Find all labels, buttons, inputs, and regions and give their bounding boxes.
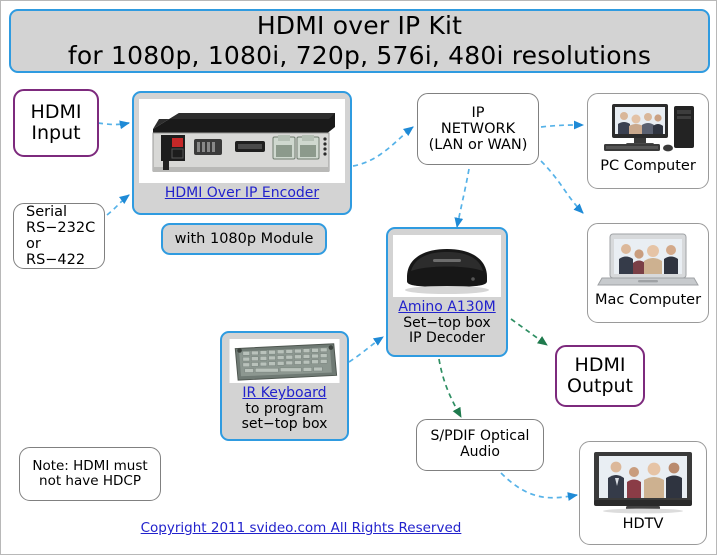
ip-network-box: IP NETWORK (LAN or WAN) — [417, 93, 539, 165]
diagram-page: HDMI over IP Kit for 1080p, 1080i, 720p,… — [0, 0, 717, 555]
pc-computer-caption: PC Computer — [600, 158, 696, 174]
macbook-laptop-photo — [594, 230, 702, 290]
ip-network-line-2: NETWORK — [441, 121, 515, 137]
spdif-audio-box: S/PDIF Optical Audio — [416, 419, 544, 471]
wire-decoder-to-hdmi-output — [511, 319, 547, 345]
ip-network-line-3: (LAN or WAN) — [429, 137, 528, 153]
ir-keyboard-link[interactable]: IR Keyboard — [242, 385, 326, 401]
ir-keyboard-line-3: set−top box — [242, 417, 328, 433]
hdcp-note-box: Note: HDMI must not have HDCP — [19, 447, 161, 501]
module-label: with 1080p Module — [175, 231, 314, 247]
hdmi-input-box: HDMI Input — [13, 89, 99, 157]
hdmi-output-box: HDMI Output — [555, 345, 645, 407]
hdtv-caption: HDTV — [623, 516, 664, 532]
mac-computer-box: Mac Computer — [587, 223, 709, 323]
title-line-1: HDMI over IP Kit — [257, 11, 462, 41]
title-line-2: for 1080p, 1080i, 720p, 576i, 480i resol… — [68, 41, 651, 71]
desktop-pc-photo — [594, 100, 702, 156]
amino-decoder-caption: Amino A130M Set−top box IP Decoder — [398, 300, 495, 347]
hdmi-output-line-1: HDMI — [575, 355, 626, 376]
encoder-link[interactable]: HDMI Over IP Encoder — [165, 185, 319, 201]
hdtv-television-photo — [586, 448, 700, 514]
mac-computer-caption: Mac Computer — [595, 292, 701, 308]
wire-encoder-to-ipnetwork — [353, 127, 413, 166]
ir-keyboard-line-2: to program — [242, 402, 328, 418]
ir-keyboard-photo — [227, 339, 342, 383]
ip-network-line-1: IP — [471, 105, 484, 121]
pc-computer-box: PC Computer — [587, 93, 709, 189]
amino-decoder-line-2: Set−top box — [398, 316, 495, 332]
wire-hdmi-input-to-encoder — [98, 123, 129, 125]
note-line-2: not have HDCP — [39, 474, 141, 489]
wire-ipnetwork-to-mac — [541, 161, 583, 213]
page-title: HDMI over IP Kit for 1080p, 1080i, 720p,… — [9, 9, 710, 73]
serial-line-3: or RS−422 — [26, 236, 104, 268]
serial-line-2: RS−232C — [26, 220, 95, 236]
amino-settop-box-photo — [393, 235, 501, 297]
spdif-line-1: S/PDIF Optical — [431, 429, 530, 445]
copyright-link[interactable]: Copyright 2011 svideo.com All Rights Res… — [1, 520, 601, 536]
hdmi-over-ip-encoder-box[interactable]: HDMI Over IP Encoder — [132, 91, 352, 215]
spdif-line-2: Audio — [460, 445, 500, 461]
hdmi-input-line-1: HDMI — [31, 102, 82, 123]
wire-decoder-to-spdif — [439, 359, 461, 417]
wire-ipnetwork-to-pc — [541, 125, 583, 127]
wire-ipnetwork-to-decoder — [457, 169, 469, 227]
wire-irkeyboard-to-decoder — [349, 337, 383, 362]
amino-decoder-box[interactable]: Amino A130M Set−top box IP Decoder — [386, 227, 508, 357]
note-line-1: Note: HDMI must — [32, 459, 147, 474]
ir-keyboard-box[interactable]: IR Keyboard to program set−top box — [220, 331, 349, 441]
hdmi-input-line-2: Input — [31, 123, 80, 144]
module-box: with 1080p Module — [161, 223, 327, 255]
hdmi-over-ip-encoder-photo — [139, 99, 345, 183]
encoder-caption: HDMI Over IP Encoder — [165, 186, 319, 202]
amino-decoder-link[interactable]: Amino A130M — [398, 299, 495, 315]
amino-decoder-line-3: IP Decoder — [398, 331, 495, 347]
serial-input-box: Serial RS−232C or RS−422 — [13, 203, 105, 269]
wire-spdif-to-hdtv — [501, 473, 577, 498]
wire-serial-to-encoder — [107, 195, 129, 215]
hdmi-output-line-2: Output — [567, 376, 633, 397]
ir-keyboard-caption: IR Keyboard to program set−top box — [242, 386, 328, 433]
serial-line-1: Serial — [26, 204, 67, 220]
